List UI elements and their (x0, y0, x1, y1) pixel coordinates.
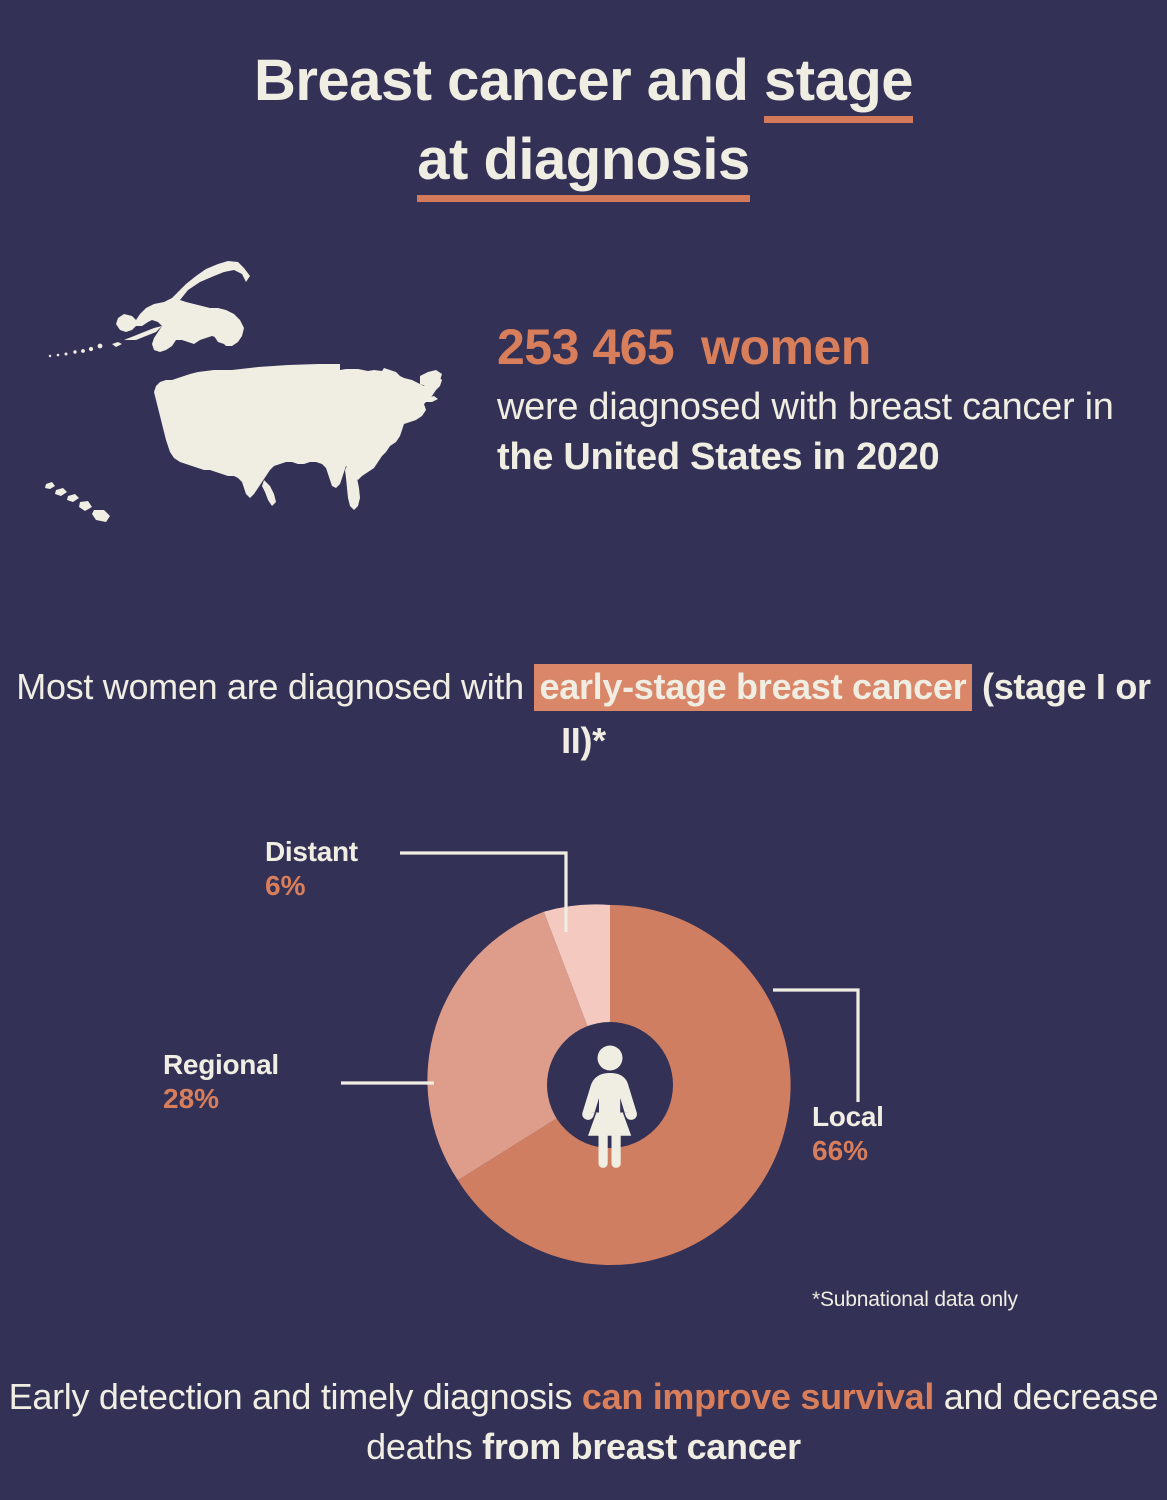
chart-label-regional: Regional 28% (163, 1048, 279, 1116)
title-underlined-at-diagnosis: at diagnosis (417, 128, 749, 202)
chart-label-distant: Distant 6% (265, 835, 358, 903)
title-underlined-stage: stage (764, 49, 913, 123)
chart-label-distant-name: Distant (265, 835, 358, 869)
chart-label-local-pct: 66% (812, 1134, 884, 1168)
callout-lead: Most women are diagnosed with (16, 666, 533, 707)
stat-block: 253 465 women were diagnosed with breast… (497, 318, 1117, 482)
chart-label-local-name: Local (812, 1100, 884, 1134)
chart-label-regional-name: Regional (163, 1048, 279, 1082)
chart-label-distant-pct: 6% (265, 869, 358, 903)
stat-number-suffix: women (701, 319, 871, 375)
title-line-1: Breast cancer and stage (0, 44, 1167, 123)
leader-line-local (773, 990, 858, 1102)
chart-label-local: Local 66% (812, 1100, 884, 1168)
stat-body-plain: were diagnosed with breast cancer in (497, 386, 1114, 428)
stat-body-bold: the United States in 2020 (497, 436, 939, 478)
footer-statement: Early detection and timely diagnosis can… (0, 1372, 1167, 1472)
footer-orange-phrase: can improve survival (582, 1376, 934, 1417)
callout-statement: Most women are diagnosed with early-stag… (0, 660, 1167, 768)
united-states-map (28, 258, 468, 526)
footer-bold-phrase: from breast cancer (482, 1426, 801, 1467)
leader-line-distant (400, 853, 566, 932)
chart-label-regional-pct: 28% (163, 1082, 279, 1116)
stage-at-diagnosis-donut-chart: Distant 6% Regional 28% Local 66% (0, 820, 1167, 1290)
chart-footnote: *Subnational data only (812, 1288, 1018, 1312)
stat-number: 253 465 (497, 319, 674, 375)
stat-headline: 253 465 women (497, 318, 1117, 376)
stat-body: were diagnosed with breast cancer in the… (497, 382, 1117, 482)
callout-highlight: early-stage breast cancer (534, 664, 973, 711)
title-line-2: at diagnosis (0, 123, 1167, 202)
title-plain-text: Breast cancer and (254, 48, 764, 113)
footer-part-1: Early detection and timely diagnosis (9, 1376, 582, 1417)
page-title: Breast cancer and stage at diagnosis (0, 44, 1167, 202)
